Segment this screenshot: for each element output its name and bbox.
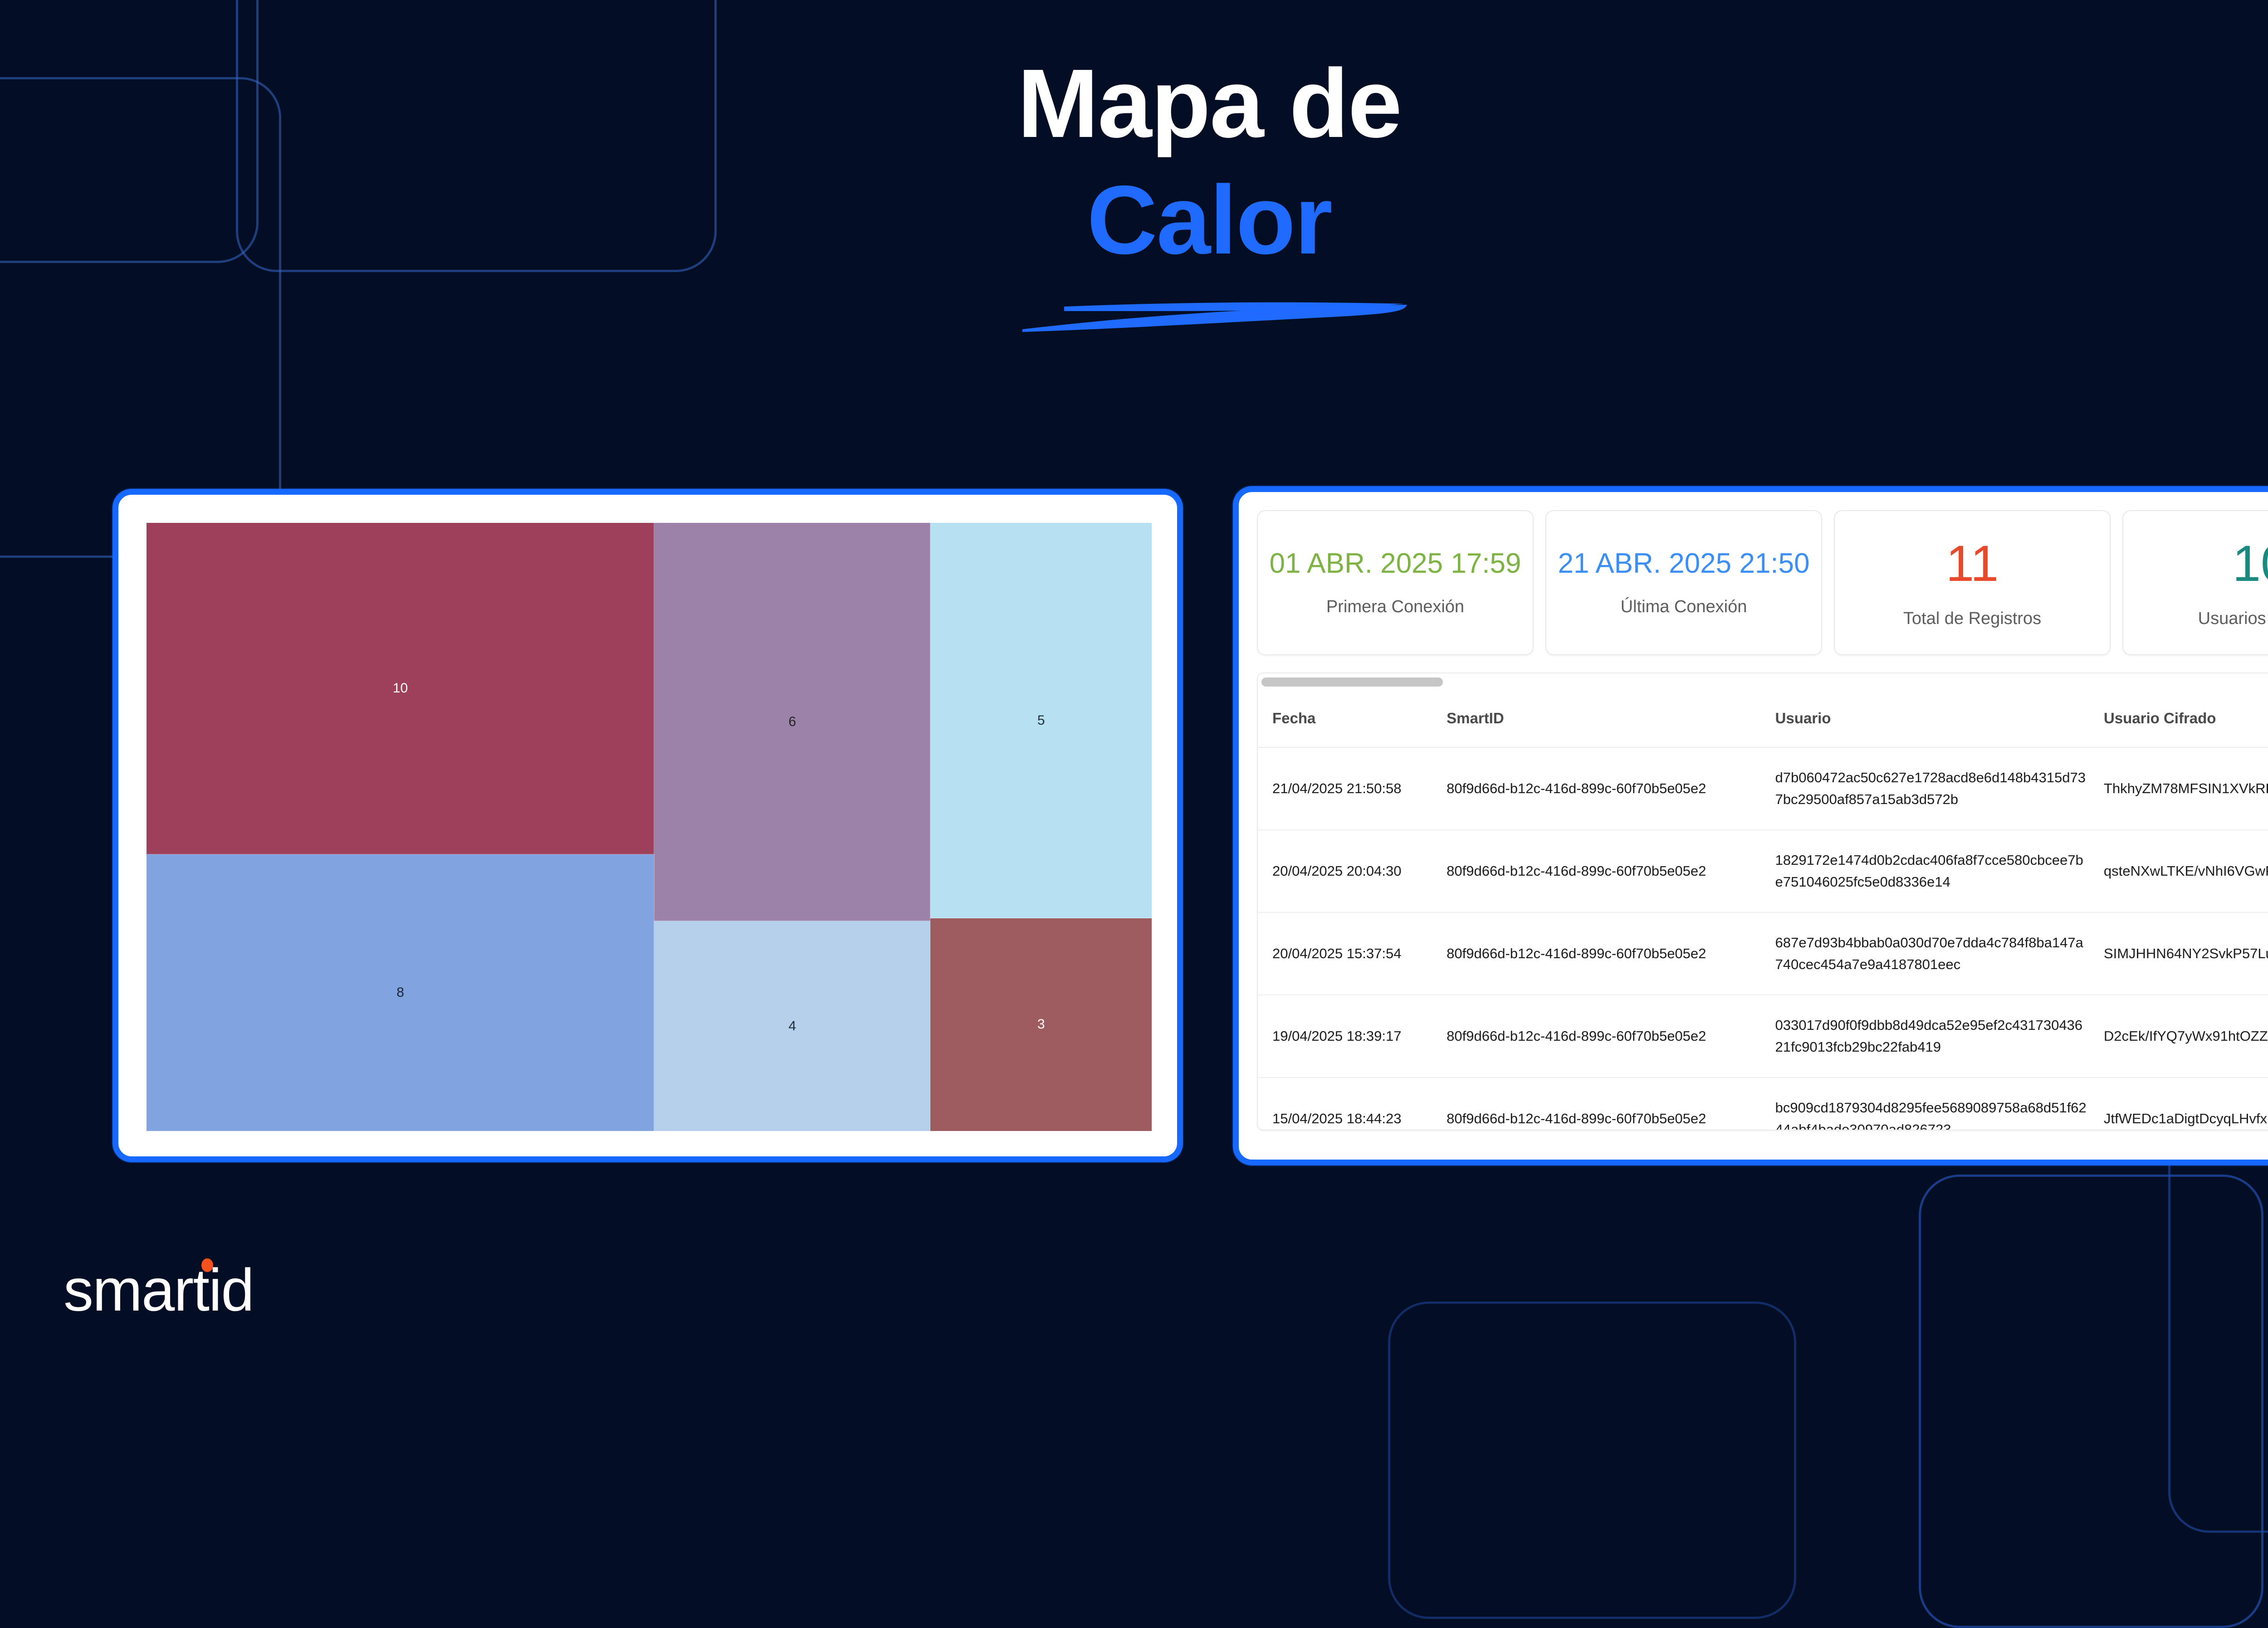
cell-usuario-cifrado: SIMJHHN64NY2SvkP57LuVTqrNXrx8	[2089, 912, 2268, 995]
scrollbar-thumb[interactable]	[1261, 678, 1443, 687]
table-row[interactable]: 21/04/2025 21:50:5880f9d66d-b12c-416d-89…	[1258, 747, 2268, 830]
cell-fecha: 20/04/2025 20:04:30	[1258, 830, 1432, 912]
treemap-cell-label: 3	[1037, 1017, 1045, 1032]
cell-smartid: 80f9d66d-b12c-416d-899c-60f70b5e05e2	[1432, 995, 1760, 1077]
cell-usuario-cifrado: qsteNXwLTKE/vNhI6VGwFPDYwBFe	[2089, 830, 2268, 912]
data-panel: 01 ABR. 2025 17:59Primera Conexión21 ABR…	[1233, 486, 2268, 1165]
cell-smartid: 80f9d66d-b12c-416d-899c-60f70b5e05e2	[1432, 1077, 1760, 1131]
cell-usuario: 033017d90f0f9dbb8d49dca52e95ef2c43173043…	[1761, 995, 2089, 1077]
cell-fecha: 15/04/2025 18:44:23	[1258, 1077, 1432, 1131]
stat-value: 01 ABR. 2025 17:59	[1269, 549, 1521, 578]
cell-usuario: d7b060472ac50c627e1728acd8e6d148b4315d73…	[1761, 747, 2089, 830]
cell-usuario: 687e7d93b4bbab0a030d70e7dda4c784f8ba147a…	[1761, 912, 2089, 995]
column-header-smartid[interactable]: SmartID	[1432, 690, 1760, 747]
title-underline-swoosh	[1005, 278, 1413, 337]
treemap-cell-label: 10	[393, 681, 408, 696]
cell-usuario: bc909cd1879304d8295fee5689089758a68d51f6…	[1761, 1077, 2089, 1131]
stat-card: 01 ABR. 2025 17:59Primera Conexión	[1257, 510, 1534, 655]
table-row[interactable]: 20/04/2025 15:37:5480f9d66d-b12c-416d-89…	[1258, 912, 2268, 995]
logo-text: smartid	[64, 1256, 254, 1324]
stat-label: Total de Registros	[1903, 609, 2041, 629]
treemap-cell[interactable]: 8	[147, 854, 654, 1131]
treemap-chart[interactable]: 1065843	[147, 523, 1152, 1131]
treemap-cell[interactable]: 3	[930, 918, 1152, 1131]
stats-row: 01 ABR. 2025 17:59Primera Conexión21 ABR…	[1257, 510, 2268, 655]
treemap-cell-label: 8	[396, 985, 404, 1000]
cell-fecha: 21/04/2025 21:50:58	[1258, 747, 1432, 830]
heatmap-panel: 1065843	[112, 489, 1183, 1162]
cell-smartid: 80f9d66d-b12c-416d-899c-60f70b5e05e2	[1432, 830, 1760, 912]
horizontal-scrollbar[interactable]	[1258, 673, 2268, 690]
table-header-row: Fecha SmartID Usuario Usuario Cifrado	[1258, 690, 2268, 747]
smartid-logo: smartid	[64, 1256, 254, 1324]
deco-rounded-rect-4	[1919, 1175, 2263, 1628]
treemap-cell[interactable]: 5	[930, 523, 1152, 918]
cell-usuario-cifrado: D2cEk/IfYQ7yWx91htOZZv4eV+zXMI	[2089, 995, 2268, 1077]
table-row[interactable]: 20/04/2025 20:04:3080f9d66d-b12c-416d-89…	[1258, 830, 2268, 912]
cell-smartid: 80f9d66d-b12c-416d-899c-60f70b5e05e2	[1432, 912, 1760, 995]
treemap-cell-label: 4	[788, 1019, 796, 1034]
stat-value: 10	[2233, 537, 2268, 590]
logo-dot-icon	[201, 1258, 213, 1272]
stat-label: Última Conexión	[1621, 597, 1747, 617]
title-line-primary: Mapa de	[0, 54, 2268, 152]
records-table: Fecha SmartID Usuario Usuario Cifrado 21…	[1258, 690, 2268, 1131]
column-header-usuario-cifrado[interactable]: Usuario Cifrado	[2089, 690, 2268, 747]
stat-card: 21 ABR. 2025 21:50Última Conexión	[1545, 510, 1822, 655]
table-row[interactable]: 19/04/2025 18:39:1780f9d66d-b12c-416d-89…	[1258, 995, 2268, 1077]
treemap-cell-label: 5	[1037, 713, 1045, 728]
treemap-cell[interactable]: 10	[147, 523, 654, 854]
treemap-cell[interactable]: 6	[654, 523, 930, 921]
cell-fecha: 20/04/2025 15:37:54	[1258, 912, 1432, 995]
stat-value: 21 ABR. 2025 21:50	[1558, 549, 1809, 578]
cell-smartid: 80f9d66d-b12c-416d-899c-60f70b5e05e2	[1432, 747, 1760, 830]
records-table-container[interactable]: Fecha SmartID Usuario Usuario Cifrado 21…	[1257, 673, 2268, 1131]
page-title: Mapa de Calor	[0, 54, 2268, 337]
column-header-usuario[interactable]: Usuario	[1761, 690, 2089, 747]
cell-fecha: 19/04/2025 18:39:17	[1258, 995, 1432, 1077]
table-row[interactable]: 15/04/2025 18:44:2380f9d66d-b12c-416d-89…	[1258, 1077, 2268, 1131]
deco-rounded-rect-5	[2168, 1125, 2268, 1533]
cell-usuario-cifrado: JtfWEDc1aDigtDcyqLHvfxRH077jtQg	[2089, 1077, 2268, 1131]
column-header-fecha[interactable]: Fecha	[1258, 690, 1432, 747]
stat-card: 11Total de Registros	[1834, 510, 2111, 655]
deco-rounded-rect-6	[1388, 1301, 1796, 1619]
stat-value: 11	[1946, 537, 1999, 590]
treemap-cell[interactable]: 4	[654, 921, 930, 1131]
title-line-accent: Calor	[0, 171, 2268, 268]
stat-label: Usuarios Únicos	[2198, 609, 2268, 629]
stat-label: Primera Conexión	[1326, 597, 1464, 617]
treemap-cell-label: 6	[788, 714, 796, 730]
stat-card: 10Usuarios Únicos	[2122, 510, 2268, 655]
cell-usuario-cifrado: ThkhyZM78MFSIN1XVkRP3C3mnnC	[2089, 747, 2268, 830]
cell-usuario: 1829172e1474d0b2cdac406fa8f7cce580cbcee7…	[1761, 830, 2089, 912]
